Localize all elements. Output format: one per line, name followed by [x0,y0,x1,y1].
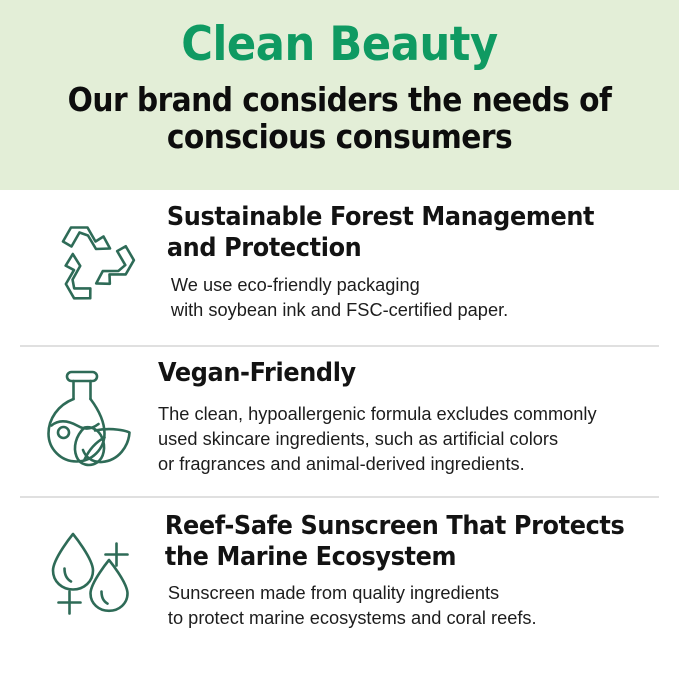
feature-icon-wrapper [20,511,163,625]
feature-description: We use eco-friendly packaging with soybe… [165,264,652,322]
feature-title: Vegan-Friendly [158,358,629,389]
feature-text-block: Reef-Safe Sunscreen That Protects the Ma… [163,511,659,630]
feature-description: The clean, hypoallergenic formula exclud… [158,389,651,477]
page-title: Clean Beauty [27,20,652,71]
feature-description: Sunscreen made from quality ingredients … [163,572,652,630]
recycle-icon [45,216,141,306]
water-droplets-icon [42,529,142,625]
feature-row-sustainable-forest: Sustainable Forest Management and Protec… [0,190,679,322]
clean-beauty-infographic: Clean Beauty Our brand considers the nee… [0,0,679,679]
feature-text-block: Sustainable Forest Management and Protec… [165,202,659,322]
flask-leaf-icon [40,366,138,470]
feature-text-block: Vegan-Friendly The clean, hypoallergenic… [158,358,659,477]
feature-icon-wrapper [20,358,158,470]
feature-title: Reef-Safe Sunscreen That Protects the Ma… [163,511,629,572]
feature-list: Sustainable Forest Management and Protec… [0,190,679,630]
page-subtitle: Our brand considers the needs of conscio… [34,81,645,156]
feature-icon-wrapper [20,202,165,306]
feature-row-vegan-friendly: Vegan-Friendly The clean, hypoallergenic… [0,347,679,477]
feature-title: Sustainable Forest Management and Protec… [165,202,629,264]
header-banner: Clean Beauty Our brand considers the nee… [0,0,679,190]
feature-row-reef-safe-sunscreen: Reef-Safe Sunscreen That Protects the Ma… [0,498,679,630]
